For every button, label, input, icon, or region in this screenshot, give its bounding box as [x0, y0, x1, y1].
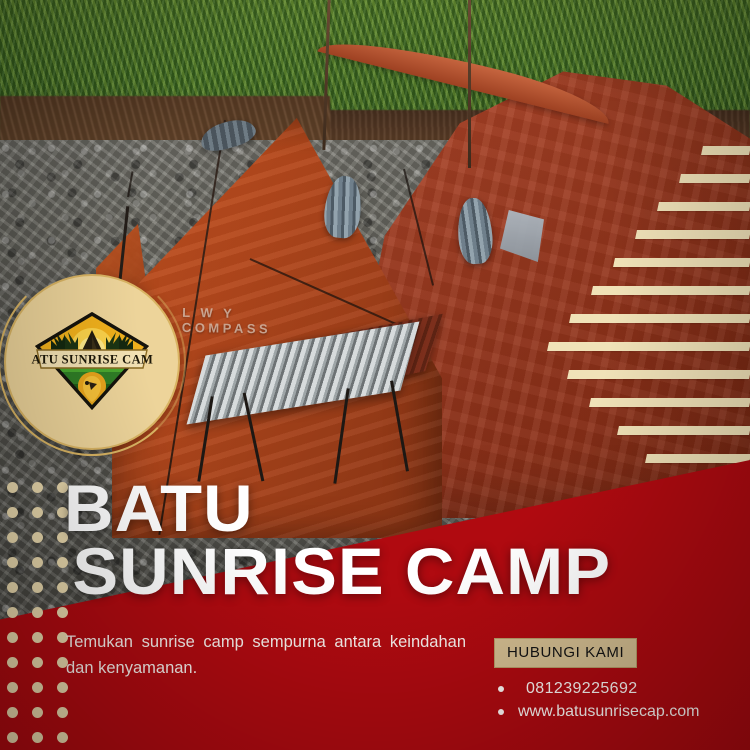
dot — [32, 557, 43, 568]
stripe-decoration — [540, 146, 750, 486]
dot — [7, 582, 18, 593]
dot — [32, 582, 43, 593]
dot — [32, 707, 43, 718]
contact-item-phone[interactable]: 081239225692 — [494, 677, 744, 700]
contact-item-website[interactable]: www.batusunrisecap.com — [494, 700, 744, 723]
dot — [7, 707, 18, 718]
dot — [7, 507, 18, 518]
headline-line-2: SUNRISE CAMP — [72, 541, 729, 602]
contact-phone-label: 081239225692 — [516, 677, 638, 700]
dot — [57, 682, 68, 693]
dot — [7, 482, 18, 493]
logo-badge: BATU SUNRISE CAMP — [6, 276, 178, 448]
stripe-bar — [591, 286, 750, 295]
badge-outer-ring — [0, 268, 186, 456]
tent-pole — [468, 0, 471, 168]
dot — [32, 657, 43, 668]
page-title: BATU SUNRISE CAMP — [64, 478, 730, 603]
stripe-bar — [679, 174, 750, 183]
dot — [32, 632, 43, 643]
dot — [57, 607, 68, 618]
tent-brand-line2: COMPASS — [182, 320, 312, 338]
dot — [32, 507, 43, 518]
stripe-bar — [701, 146, 750, 155]
contact-heading-badge: HUBUNGI KAMI — [494, 638, 637, 668]
bullet-icon — [498, 686, 504, 692]
dot — [32, 682, 43, 693]
dot — [7, 632, 18, 643]
promo-poster: L W Y COMPASS — [0, 0, 750, 750]
headline-line-1: BATU — [64, 478, 730, 539]
tagline-text: Temukan sunrise camp sempurna antara kei… — [66, 630, 466, 681]
dot — [7, 557, 18, 568]
dot — [57, 707, 68, 718]
dot — [32, 532, 43, 543]
stripe-bar — [589, 398, 750, 407]
stripe-bar — [613, 258, 750, 267]
stripe-bar — [645, 454, 750, 463]
dot — [7, 682, 18, 693]
dot — [32, 607, 43, 618]
contact-list: 081239225692 www.batusunrisecap.com — [494, 677, 744, 723]
contact-block: HUBUNGI KAMI 081239225692 www.batusunris… — [494, 638, 744, 723]
dot — [7, 532, 18, 543]
stripe-bar — [617, 426, 750, 435]
bullet-icon — [498, 709, 504, 715]
dot — [7, 657, 18, 668]
dot — [7, 732, 18, 743]
tent-brand-label: L W Y COMPASS — [182, 305, 313, 338]
contact-website-label: www.batusunrisecap.com — [516, 700, 699, 723]
dot — [32, 482, 43, 493]
stripe-bar — [635, 230, 750, 239]
dot — [32, 732, 43, 743]
dot — [7, 607, 18, 618]
stripe-bar — [567, 370, 750, 379]
stripe-bar — [569, 314, 750, 323]
stripe-bar — [657, 202, 750, 211]
stripe-bar — [547, 342, 750, 351]
dot — [57, 732, 68, 743]
